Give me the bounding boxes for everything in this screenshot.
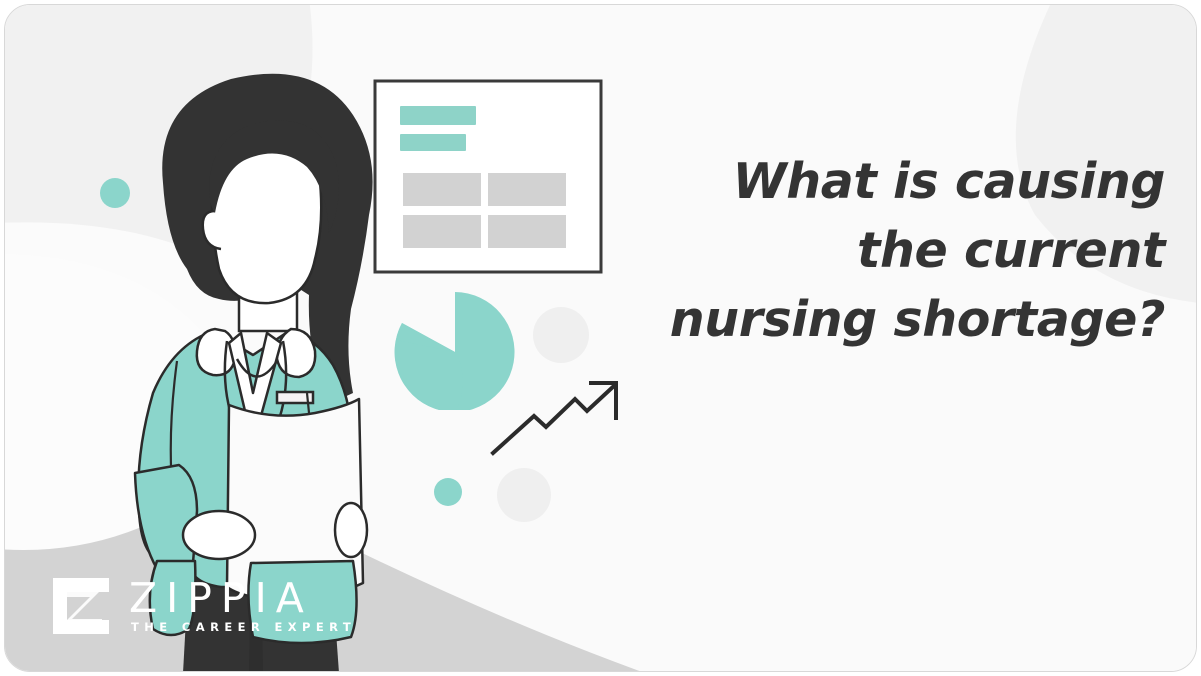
- document-block-3: [403, 215, 481, 248]
- trend-arrow-line: [493, 385, 615, 453]
- character-collar-left: [197, 329, 235, 375]
- headline-line-2: the current: [605, 216, 1165, 285]
- character-hand-right: [335, 503, 367, 557]
- zippia-wordmark: ZIPPIA: [129, 577, 356, 619]
- character-sleeve-left: [135, 465, 197, 569]
- gray-circle-bottom: [497, 468, 551, 522]
- document-header-bar-1: [400, 106, 476, 125]
- promo-card: What is causing the current nursing shor…: [4, 4, 1197, 672]
- document-block-4: [488, 215, 566, 248]
- screenshot-stage: What is causing the current nursing shor…: [0, 0, 1201, 676]
- trend-arrow-graphic: [487, 373, 627, 458]
- headline-line-1: What is causing: [605, 147, 1165, 216]
- document-block-1: [403, 173, 481, 206]
- gray-circle-mid: [533, 307, 589, 363]
- headline-line-3: nursing shortage?: [605, 285, 1165, 354]
- zippia-logo-mark-icon: [50, 575, 112, 637]
- character-collar-right: [277, 329, 315, 377]
- teal-circle-bottom: [434, 478, 462, 506]
- zippia-tagline: THE CAREER EXPERT: [129, 619, 356, 635]
- document-block-2: [488, 173, 566, 206]
- zippia-logo-text: ZIPPIA THE CAREER EXPERT: [129, 577, 356, 635]
- headline: What is causing the current nursing shor…: [605, 147, 1165, 354]
- character-hand-left: [183, 511, 255, 559]
- zippia-logo[interactable]: ZIPPIA THE CAREER EXPERT: [50, 575, 356, 637]
